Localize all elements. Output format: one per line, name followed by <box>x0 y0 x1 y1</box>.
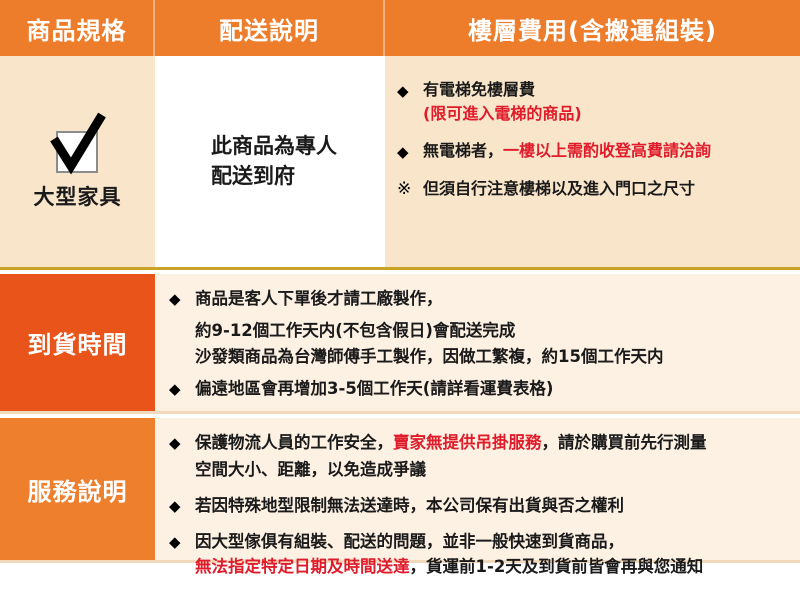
cell-delivery-note: 此商品為專人 配送到府 <box>155 56 385 267</box>
product-spec-label: 大型家具 <box>34 181 122 211</box>
service-item-2: 若因特殊地型限制無法送達時，本公司保有出貨與否之權利 <box>195 493 792 518</box>
cell-floor-fee: ◆ 有電梯免樓層費 (限可進入電梯的商品) ◆ 無電梯者，一樓以上需酌收登高費請… <box>385 56 800 267</box>
row-label-service-note-text: 服務說明 <box>28 472 128 507</box>
arrival-item-1: 商品是客人下單後才請工廠製作， <box>195 286 792 311</box>
service-item-1-highlight: 賣家無提供吊掛服務 <box>393 433 542 452</box>
list-item: ◆ 保護物流人員的工作安全，賣家無提供吊掛服務，請於購買前先行測量 <box>169 430 792 455</box>
service-item-3-suffix: ，貨運前1-2天及到貨前皆會再與您通知 <box>410 557 704 576</box>
row-label-arrival-time: 到貨時間 <box>0 274 155 411</box>
row-label-service-note: 服務說明 <box>0 418 155 560</box>
list-item: ◆ 商品是客人下單後才請工廠製作， <box>169 286 792 311</box>
service-item-3-line2: 無法指定特定日期及時間送達，貨運前1-2天及到貨前皆會再與您通知 <box>195 554 792 579</box>
list-item: ◆ 若因特殊地型限制無法送達時，本公司保有出貨與否之權利 <box>169 493 792 518</box>
diamond-bullet-icon: ◆ <box>169 529 195 554</box>
shipping-info-table: 商品規格 配送說明 樓層費用(含搬運組裝) 大型家具 此商品為專人 配送到府 <box>0 0 800 595</box>
service-item-1-subline: 空間大小、距離，以免造成爭議 <box>169 457 792 482</box>
arrival-item-2: 偏遠地區會再增加3-5個工作天(請詳看運費表格) <box>195 376 792 401</box>
header-cell-product-spec: 商品規格 <box>0 0 155 56</box>
delivery-note-text: 此商品為專人 配送到府 <box>203 132 337 192</box>
floor-fee-item-2: 無電梯者，一樓以上需酌收登高費請洽詢 <box>423 139 790 163</box>
header-cell-delivery-note: 配送說明 <box>155 0 385 56</box>
table-row: 到貨時間 ◆ 商品是客人下單後才請工廠製作， 約9-12個工作天内(不包含假日)… <box>0 274 800 414</box>
cell-service-note-content: ◆ 保護物流人員的工作安全，賣家無提供吊掛服務，請於購買前先行測量 空間大小、距… <box>155 418 800 560</box>
cell-arrival-time-content: ◆ 商品是客人下單後才請工廠製作， 約9-12個工作天内(不包含假日)會配送完成… <box>155 274 800 411</box>
list-item: ◆ 因大型傢俱有組裝、配送的問題，並非一般快速到貨商品， 無法指定特定日期及時間… <box>169 529 792 579</box>
table-row: 服務說明 ◆ 保護物流人員的工作安全，賣家無提供吊掛服務，請於購買前先行測量 空… <box>0 418 800 563</box>
floor-fee-item-2-highlight: 一樓以上需酌收登高費請洽詢 <box>503 141 711 160</box>
header-cell-floor-fee: 樓層費用(含搬運組裝) <box>385 0 800 56</box>
floor-fee-item-1-line2: (限可進入電梯的商品) <box>423 102 790 126</box>
service-item-1: 保護物流人員的工作安全，賣家無提供吊掛服務，請於購買前先行測量 <box>195 430 792 455</box>
check-mark-icon <box>48 113 108 175</box>
floor-fee-item-1-line1: 有電梯免樓層費 <box>423 78 790 102</box>
table-row: 大型家具 此商品為專人 配送到府 ◆ 有電梯免樓層費 (限可進入電梯的商品) ◆… <box>0 56 800 270</box>
delivery-note-line-2: 配送到府 <box>211 162 337 192</box>
diamond-bullet-icon: ◆ <box>169 286 195 311</box>
reference-mark-icon: ※ <box>397 177 423 203</box>
diamond-bullet-icon: ◆ <box>169 493 195 518</box>
floor-fee-item-3: 但須自行注意樓梯以及進入門口之尺寸 <box>423 177 790 201</box>
header-label-product-spec: 商品規格 <box>27 11 127 46</box>
header-label-delivery-note: 配送說明 <box>219 11 319 46</box>
delivery-note-line-1: 此商品為專人 <box>211 132 337 162</box>
diamond-bullet-icon: ◆ <box>169 376 195 401</box>
list-item: ◆ 偏遠地區會再增加3-5個工作天(請詳看運費表格) <box>169 376 792 401</box>
table-header-row: 商品規格 配送說明 樓層費用(含搬運組裝) <box>0 0 800 56</box>
service-item-3: 因大型傢俱有組裝、配送的問題，並非一般快速到貨商品， 無法指定特定日期及時間送達… <box>195 529 792 579</box>
diamond-bullet-icon: ◆ <box>169 430 195 455</box>
row-label-arrival-time-text: 到貨時間 <box>28 325 128 360</box>
diamond-bullet-icon: ◆ <box>397 78 423 103</box>
service-item-1-prefix: 保護物流人員的工作安全， <box>195 433 393 452</box>
service-item-3-prefix: 因大型傢俱有組裝、配送的問題，並非一般快速到貨商品， <box>195 529 792 554</box>
header-label-floor-fee: 樓層費用(含搬運組裝) <box>468 11 717 46</box>
floor-fee-item-1: 有電梯免樓層費 (限可進入電梯的商品) <box>423 78 790 126</box>
arrival-item-1-subline-1: 約9-12個工作天内(不包含假日)會配送完成 <box>169 318 792 343</box>
cell-product-spec: 大型家具 <box>0 56 155 267</box>
list-item: ※ 但須自行注意樓梯以及進入門口之尺寸 <box>397 177 790 203</box>
service-item-1-suffix: ，請於購買前先行測量 <box>542 433 707 452</box>
list-item: ◆ 無電梯者，一樓以上需酌收登高費請洽詢 <box>397 139 790 164</box>
floor-fee-item-2-prefix: 無電梯者， <box>423 141 503 160</box>
arrival-item-1-subline-2: 沙發類商品為台灣師傅手工製作，因做工繁複，約15個工作天内 <box>169 344 792 369</box>
service-item-3-highlight: 無法指定特定日期及時間送達 <box>195 557 410 576</box>
checkbox-checked-icon <box>48 113 108 175</box>
list-item: ◆ 有電梯免樓層費 (限可進入電梯的商品) <box>397 78 790 126</box>
diamond-bullet-icon: ◆ <box>397 139 423 164</box>
